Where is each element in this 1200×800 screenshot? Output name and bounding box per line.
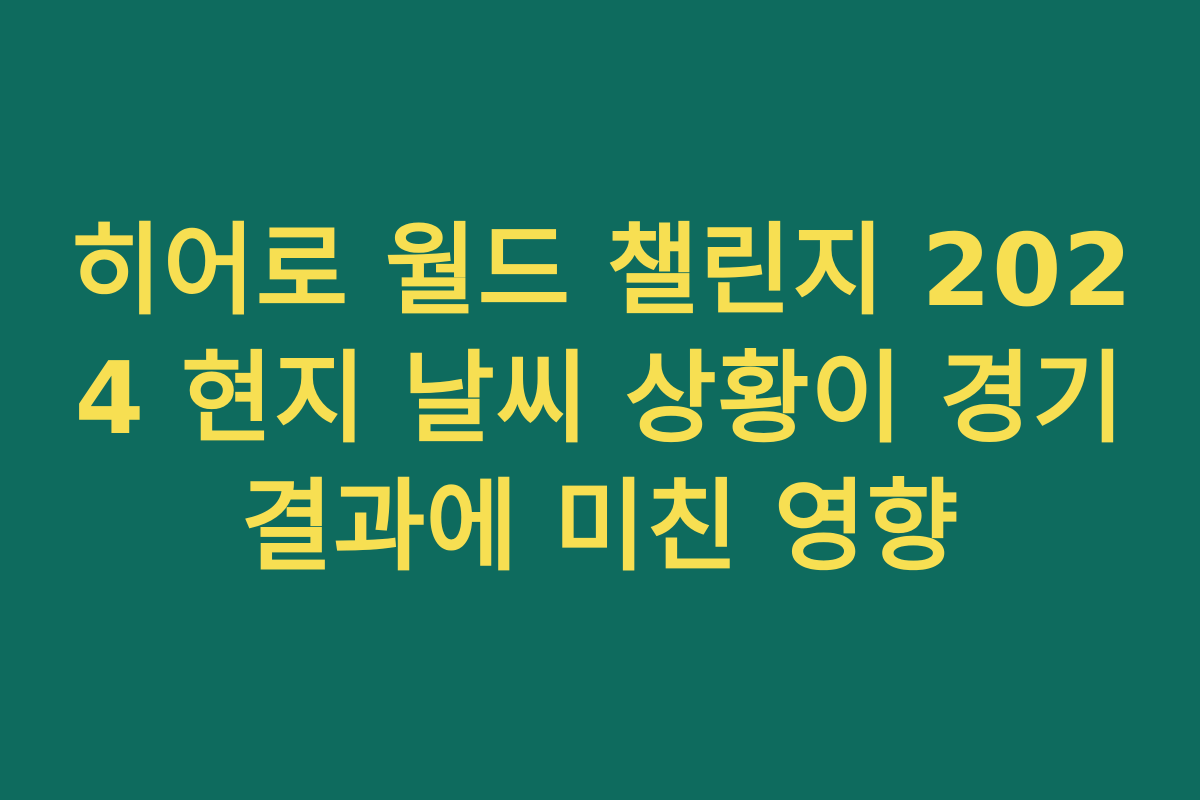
thumbnail-card: 히어로 월드 챌린지 202 4 현지 날씨 상황이 경기 결과에 미친 영향 (0, 0, 1200, 800)
headline-line-3: 결과에 미친 영향 (70, 463, 1130, 591)
headline-line-2: 4 현지 날씨 상황이 경기 (70, 335, 1130, 463)
headline-line-1: 히어로 월드 챌린지 202 (70, 207, 1130, 335)
headline-block: 히어로 월드 챌린지 202 4 현지 날씨 상황이 경기 결과에 미친 영향 (70, 207, 1130, 591)
